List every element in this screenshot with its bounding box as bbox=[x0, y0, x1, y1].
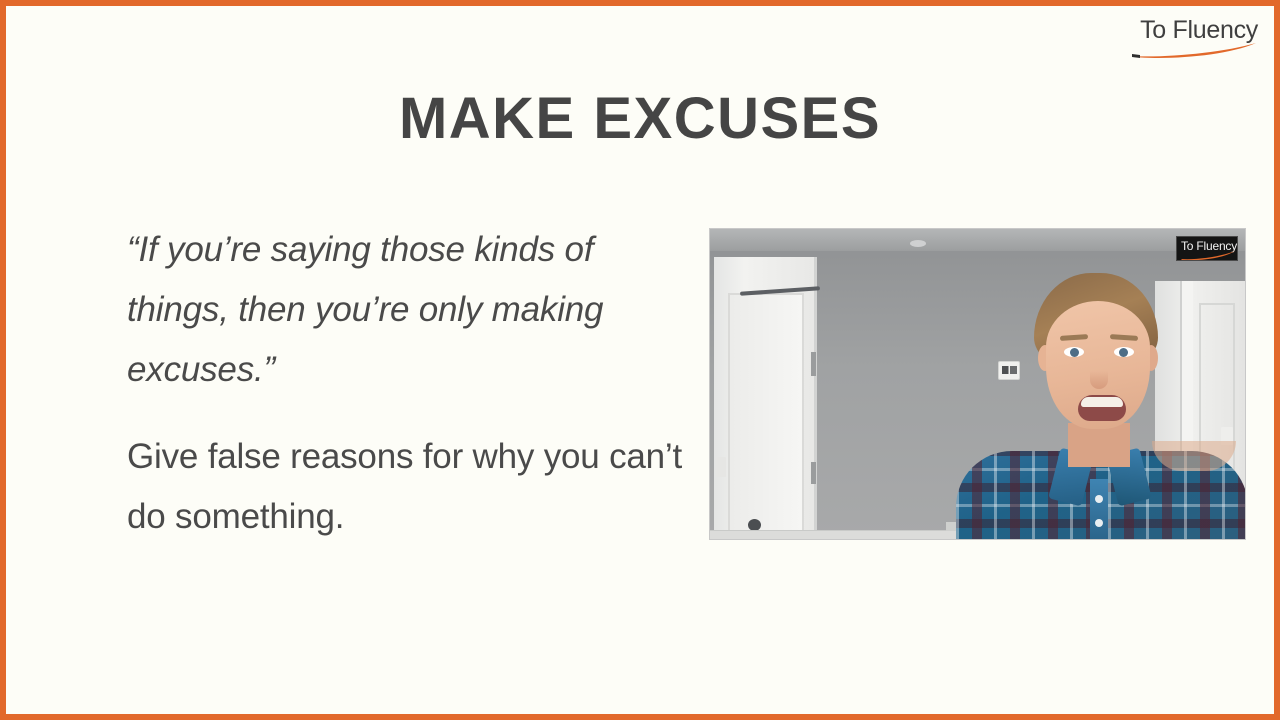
brand-logo-text: To Fluency bbox=[1128, 16, 1260, 44]
neck bbox=[1068, 423, 1130, 467]
wall-outlet-left bbox=[716, 457, 726, 477]
video-panel[interactable]: To Fluency bbox=[709, 228, 1246, 540]
text-column: “If you’re saying those kinds of things,… bbox=[127, 220, 687, 547]
brand-swoosh-icon bbox=[1130, 42, 1258, 58]
video-watermark-badge: To Fluency bbox=[1176, 236, 1238, 261]
slide-canvas: To Fluency MAKE EXCUSES “If you’re sayin… bbox=[0, 0, 1280, 720]
video-scene: To Fluency bbox=[710, 229, 1245, 539]
door-hinge-lower bbox=[811, 462, 816, 484]
brand-logo: To Fluency bbox=[1128, 16, 1260, 60]
left-door bbox=[714, 257, 817, 539]
shirt-button bbox=[1095, 519, 1103, 527]
presenter-figure bbox=[950, 273, 1245, 539]
nose bbox=[1090, 359, 1108, 389]
mouth bbox=[1078, 395, 1126, 421]
left-door-panel bbox=[728, 293, 804, 533]
shirt-button bbox=[1095, 495, 1103, 503]
quote-paragraph: “If you’re saying those kinds of things,… bbox=[127, 220, 687, 400]
eye-left bbox=[1064, 347, 1084, 357]
explanation-paragraph: Give false reasons for why you can’t do … bbox=[127, 427, 687, 547]
teeth bbox=[1081, 397, 1123, 407]
page-title: MAKE EXCUSES bbox=[6, 88, 1274, 150]
video-watermark-swoosh-icon bbox=[1180, 251, 1236, 260]
shirt-placket bbox=[1090, 479, 1108, 539]
eye-right bbox=[1114, 347, 1134, 357]
ceiling bbox=[710, 229, 1245, 251]
ceiling-light-icon bbox=[910, 240, 926, 247]
door-hinge-upper bbox=[811, 352, 816, 376]
